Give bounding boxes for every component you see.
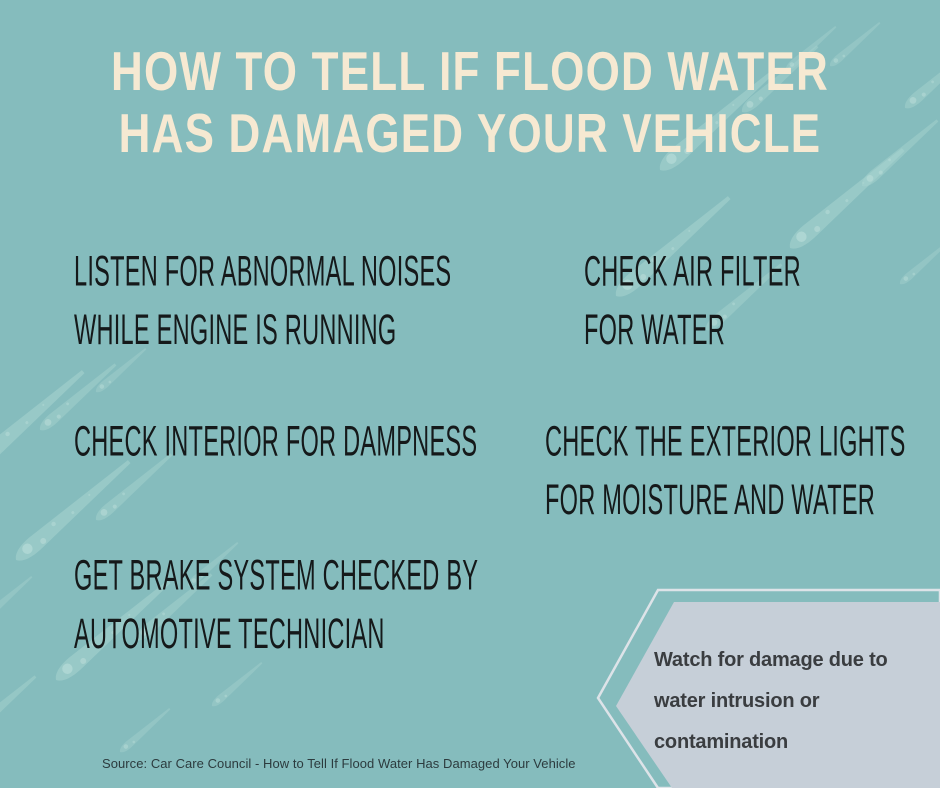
tip-get-brake-system-checked: GET BRAKE SYSTEM CHECKED BY AUTOMOTIVE T…	[74, 547, 478, 663]
tip-4-line-2: FOR MOISTURE AND WATER	[545, 471, 906, 529]
callout-message: Watch for damage due to water intrusion …	[654, 640, 934, 763]
callout-line-3: contamination	[654, 722, 934, 763]
tip-5-line-2: AUTOMOTIVE TECHNICIAN	[74, 605, 478, 663]
tip-listen-for-abnormal-noises: LISTEN FOR ABNORMAL NOISES WHILE ENGINE …	[74, 243, 451, 359]
tip-4-line-1: CHECK THE EXTERIOR LIGHTS	[545, 413, 906, 471]
tip-3-line-1: CHECK INTERIOR FOR DAMPNESS	[74, 413, 477, 471]
tip-2-line-2: FOR WATER	[584, 301, 801, 359]
tip-check-exterior-lights: CHECK THE EXTERIOR LIGHTS FOR MOISTURE A…	[545, 413, 906, 529]
tip-check-air-filter-for-water: CHECK AIR FILTER FOR WATER	[584, 243, 801, 359]
page-title: HOW TO TELL IF FLOOD WATER HAS DAMAGED Y…	[0, 40, 940, 164]
title-line-2: HAS DAMAGED YOUR VEHICLE	[94, 102, 846, 164]
tip-5-line-1: GET BRAKE SYSTEM CHECKED BY	[74, 547, 478, 605]
infographic-poster: HOW TO TELL IF FLOOD WATER HAS DAMAGED Y…	[0, 0, 940, 788]
callout-line-1: Watch for damage due to	[654, 640, 934, 681]
source-attribution: Source: Car Care Council - How to Tell I…	[102, 756, 576, 771]
tip-1-line-1: LISTEN FOR ABNORMAL NOISES	[74, 243, 451, 301]
tip-2-line-1: CHECK AIR FILTER	[584, 243, 801, 301]
tip-1-line-2: WHILE ENGINE IS RUNNING	[74, 301, 451, 359]
title-line-1: HOW TO TELL IF FLOOD WATER	[94, 40, 846, 102]
callout-line-2: water intrusion or	[654, 681, 934, 722]
tip-check-interior-for-dampness: CHECK INTERIOR FOR DAMPNESS	[74, 413, 477, 471]
